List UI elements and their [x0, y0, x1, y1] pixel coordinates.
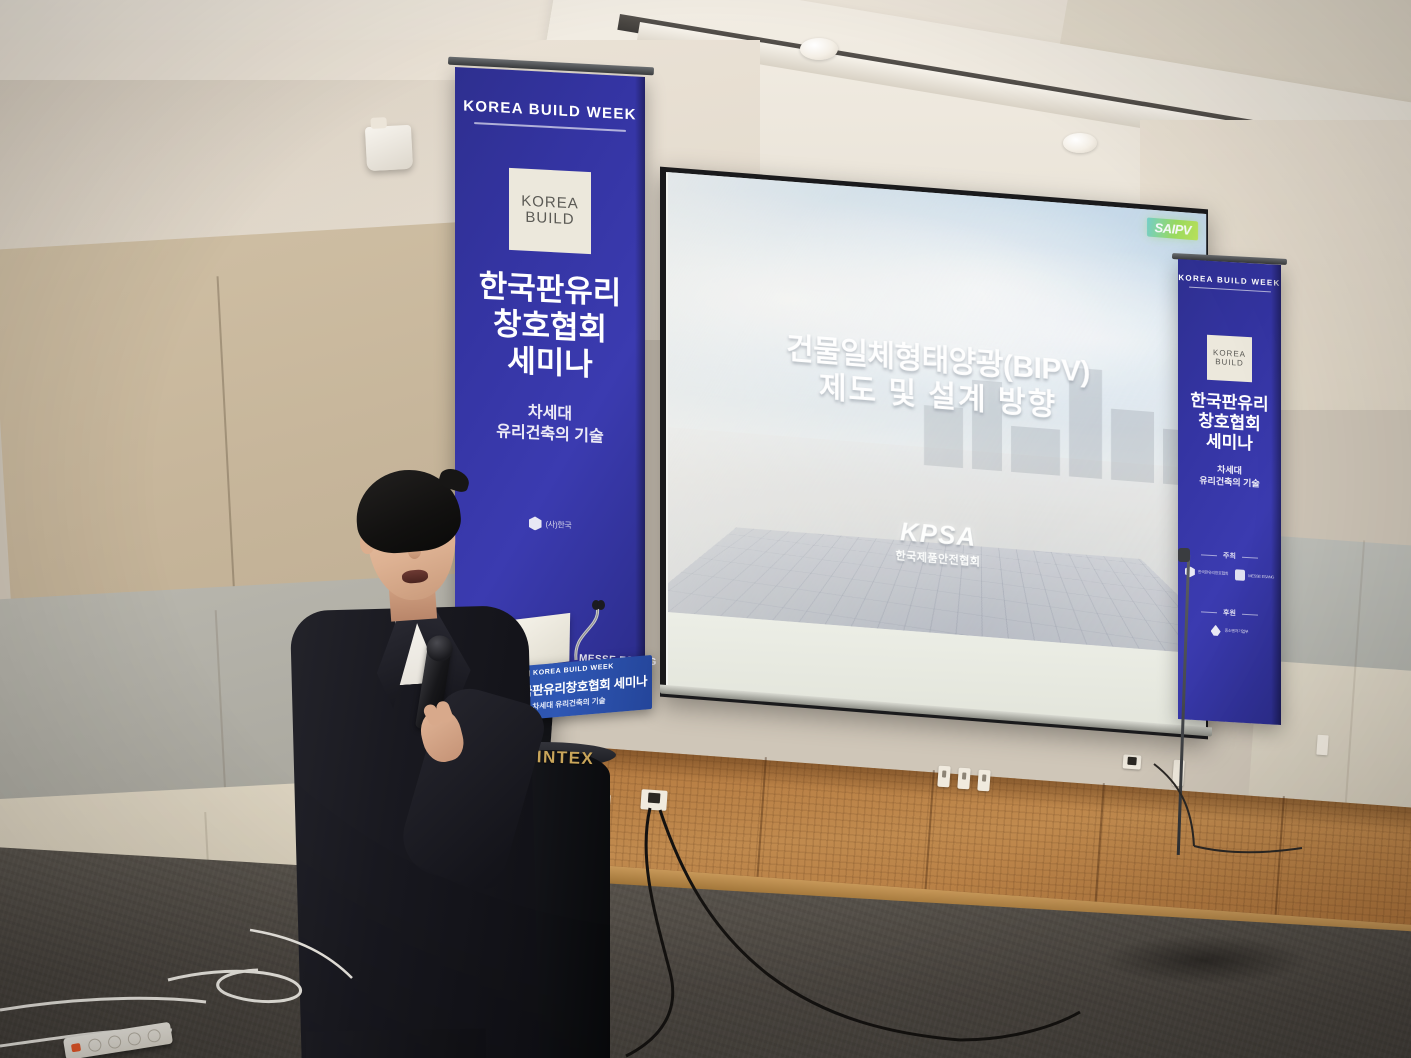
host-logo-1: 한국판유리창호협회 [1185, 566, 1228, 580]
banner-left-subheading: 차세대 유리건축의 기술 [455, 399, 645, 450]
wall-outlet-4[interactable] [957, 768, 970, 790]
banner-right-subheading: 차세대 유리건축의 기술 [1178, 462, 1281, 491]
banner-right-host-label: 주최 [1223, 550, 1236, 561]
photo-scene: SAIPV 건물일체형태양광(BIPV) 제도 및 설계 방향 KPSA 한국제… [0, 0, 1411, 1058]
saipv-badge: SAIPV [1147, 217, 1198, 240]
banner-right-host-logos: 한국판유리창호협회 MESSE ESANG [1178, 566, 1281, 583]
power-strip-led [71, 1043, 81, 1052]
banner-right-sponsor-logos: 중소벤처기업부 [1178, 623, 1281, 640]
banner-right-sponsor-label: 후원 [1223, 607, 1236, 618]
power-socket-3[interactable] [127, 1031, 142, 1046]
banner-right-host-block: 주최 한국판유리창호협회 MESSE ESANG [1178, 542, 1281, 583]
sponsor-logo-1-text: 중소벤처기업부 [1225, 628, 1249, 635]
banner-right: KOREA BUILD WEEK KOREA BUILD 한국판유리 창호협회 … [1178, 259, 1281, 725]
banner-right-logo-line2: BUILD [1215, 358, 1244, 368]
downlight-ceiling-2 [1063, 133, 1097, 153]
banner-left-week-title: KOREA BUILD WEEK [455, 97, 645, 124]
power-socket-1[interactable] [87, 1038, 102, 1053]
power-socket-4[interactable] [147, 1028, 162, 1043]
presentation-slide: SAIPV 건물일체형태양광(BIPV) 제도 및 설계 방향 KPSA 한국제… [668, 172, 1206, 654]
banner-right-korea-build-logo: KOREA BUILD [1207, 335, 1252, 383]
banner-left-korea-build-logo: KOREA BUILD [509, 168, 591, 254]
speaker-hair [353, 466, 464, 557]
banner-left-heading: 한국판유리 창호협회 세미나 [455, 267, 645, 387]
host-logo-2: MESSE ESANG [1235, 569, 1274, 582]
host-logo-1-text: 한국판유리창호협회 [1198, 569, 1228, 577]
host-mark-2-icon [1235, 569, 1245, 581]
projector-cables-right [1130, 750, 1410, 870]
banner-right-rule [1189, 287, 1271, 293]
banner-right-heading: 한국판유리 창호협회 세미나 [1178, 390, 1281, 456]
wall-outlet-5[interactable] [977, 770, 990, 792]
banner-left-logo-line2: BUILD [525, 210, 574, 228]
carpet-shadow [1100, 935, 1310, 985]
gooseneck-microphone [568, 600, 608, 662]
banner-right-sponsor-block: 후원 중소벤처기업부 [1178, 599, 1281, 640]
wall-speaker-box [365, 125, 413, 171]
banner-right-edge-shadow [1271, 264, 1281, 725]
projection-screen: SAIPV 건물일체형태양광(BIPV) 제도 및 설계 방향 KPSA 한국제… [666, 172, 1206, 734]
wall-outlet-3[interactable] [937, 766, 950, 788]
downlight-ceiling-1 [800, 38, 838, 60]
power-socket-2[interactable] [107, 1035, 122, 1050]
sponsor-drop-icon [1211, 624, 1221, 636]
floor-cables-dark [560, 790, 1120, 1058]
microphone-stand-head [1178, 548, 1190, 562]
banner-right-week-title: KOREA BUILD WEEK [1178, 273, 1281, 288]
banner-left-rule [474, 122, 626, 132]
banner-left-edge-shadow [635, 76, 645, 677]
banner-left-organizer-label: (사)한국 [546, 519, 572, 531]
